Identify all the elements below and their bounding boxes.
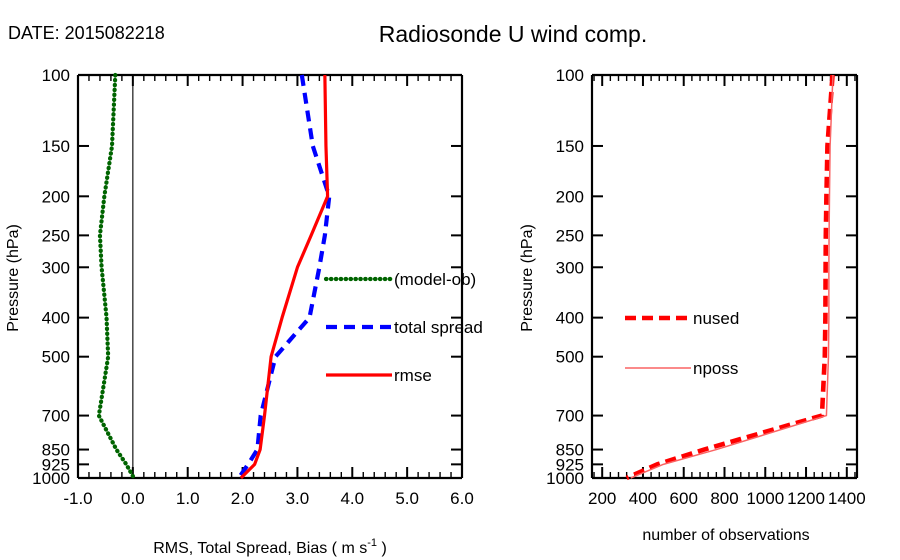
y-tick-label: 250 xyxy=(42,226,70,245)
legend-label-nposs: nposs xyxy=(693,359,738,378)
page-title: Radiosonde U wind comp. xyxy=(379,21,647,47)
x-tick-label: 6.0 xyxy=(450,489,474,508)
y-tick-label: 300 xyxy=(556,258,584,277)
figure-canvas: DATE: 2015082218 Radiosonde U wind comp.… xyxy=(0,0,900,560)
x-tick-label: 2.0 xyxy=(231,489,255,508)
legend-label-nused: nused xyxy=(693,309,739,328)
y-tick-label: 400 xyxy=(42,309,70,328)
y-tick-label: 100 xyxy=(556,66,584,85)
x-tick-label: 1.0 xyxy=(176,489,200,508)
x-tick-label: 600 xyxy=(670,489,698,508)
x-tick-label: 200 xyxy=(588,489,616,508)
legend-label-modelob: (model-ob) xyxy=(394,270,476,289)
date-label: DATE: 2015082218 xyxy=(8,23,165,43)
x-tick-label: 4.0 xyxy=(340,489,364,508)
y-tick-label: 150 xyxy=(556,137,584,156)
right-x-axis-title: number of observations xyxy=(642,527,809,544)
y-tick-label: 500 xyxy=(42,348,70,367)
legend-label-rmse: rmse xyxy=(394,366,432,385)
x-tick-label: 1200 xyxy=(787,489,825,508)
y-tick-label: 700 xyxy=(42,407,70,426)
x-tick-label: 0.0 xyxy=(121,489,145,508)
chart-page: DATE: 2015082218 Radiosonde U wind comp.… xyxy=(0,0,900,560)
right-y-axis-title: Pressure (hPa) xyxy=(519,224,536,332)
x-tick-label: 1000 xyxy=(746,489,784,508)
y-tick-label: 200 xyxy=(556,187,584,206)
y-tick-label: 500 xyxy=(556,348,584,367)
y-tick-label: 700 xyxy=(556,407,584,426)
legend-label-totalspread: total spread xyxy=(394,318,483,337)
x-tick-label: 3.0 xyxy=(286,489,310,508)
y-tick-label: 300 xyxy=(42,258,70,277)
y-tick-label: 400 xyxy=(556,309,584,328)
x-tick-label: 400 xyxy=(629,489,657,508)
y-tick-label: 150 xyxy=(42,137,70,156)
y-tick-label: 1000 xyxy=(32,469,70,488)
y-tick-label: 200 xyxy=(42,187,70,206)
x-tick-label: 5.0 xyxy=(395,489,419,508)
x-tick-label: 1400 xyxy=(828,489,866,508)
x-tick-label: -1.0 xyxy=(63,489,92,508)
y-tick-label: 250 xyxy=(556,226,584,245)
x-tick-label: 800 xyxy=(710,489,738,508)
y-tick-label: 100 xyxy=(42,66,70,85)
left-y-axis-title: Pressure (hPa) xyxy=(5,224,22,332)
left-x-axis-title: RMS, Total Spread, Bias ( m s-1 ) xyxy=(153,537,387,557)
y-tick-label: 1000 xyxy=(546,469,584,488)
